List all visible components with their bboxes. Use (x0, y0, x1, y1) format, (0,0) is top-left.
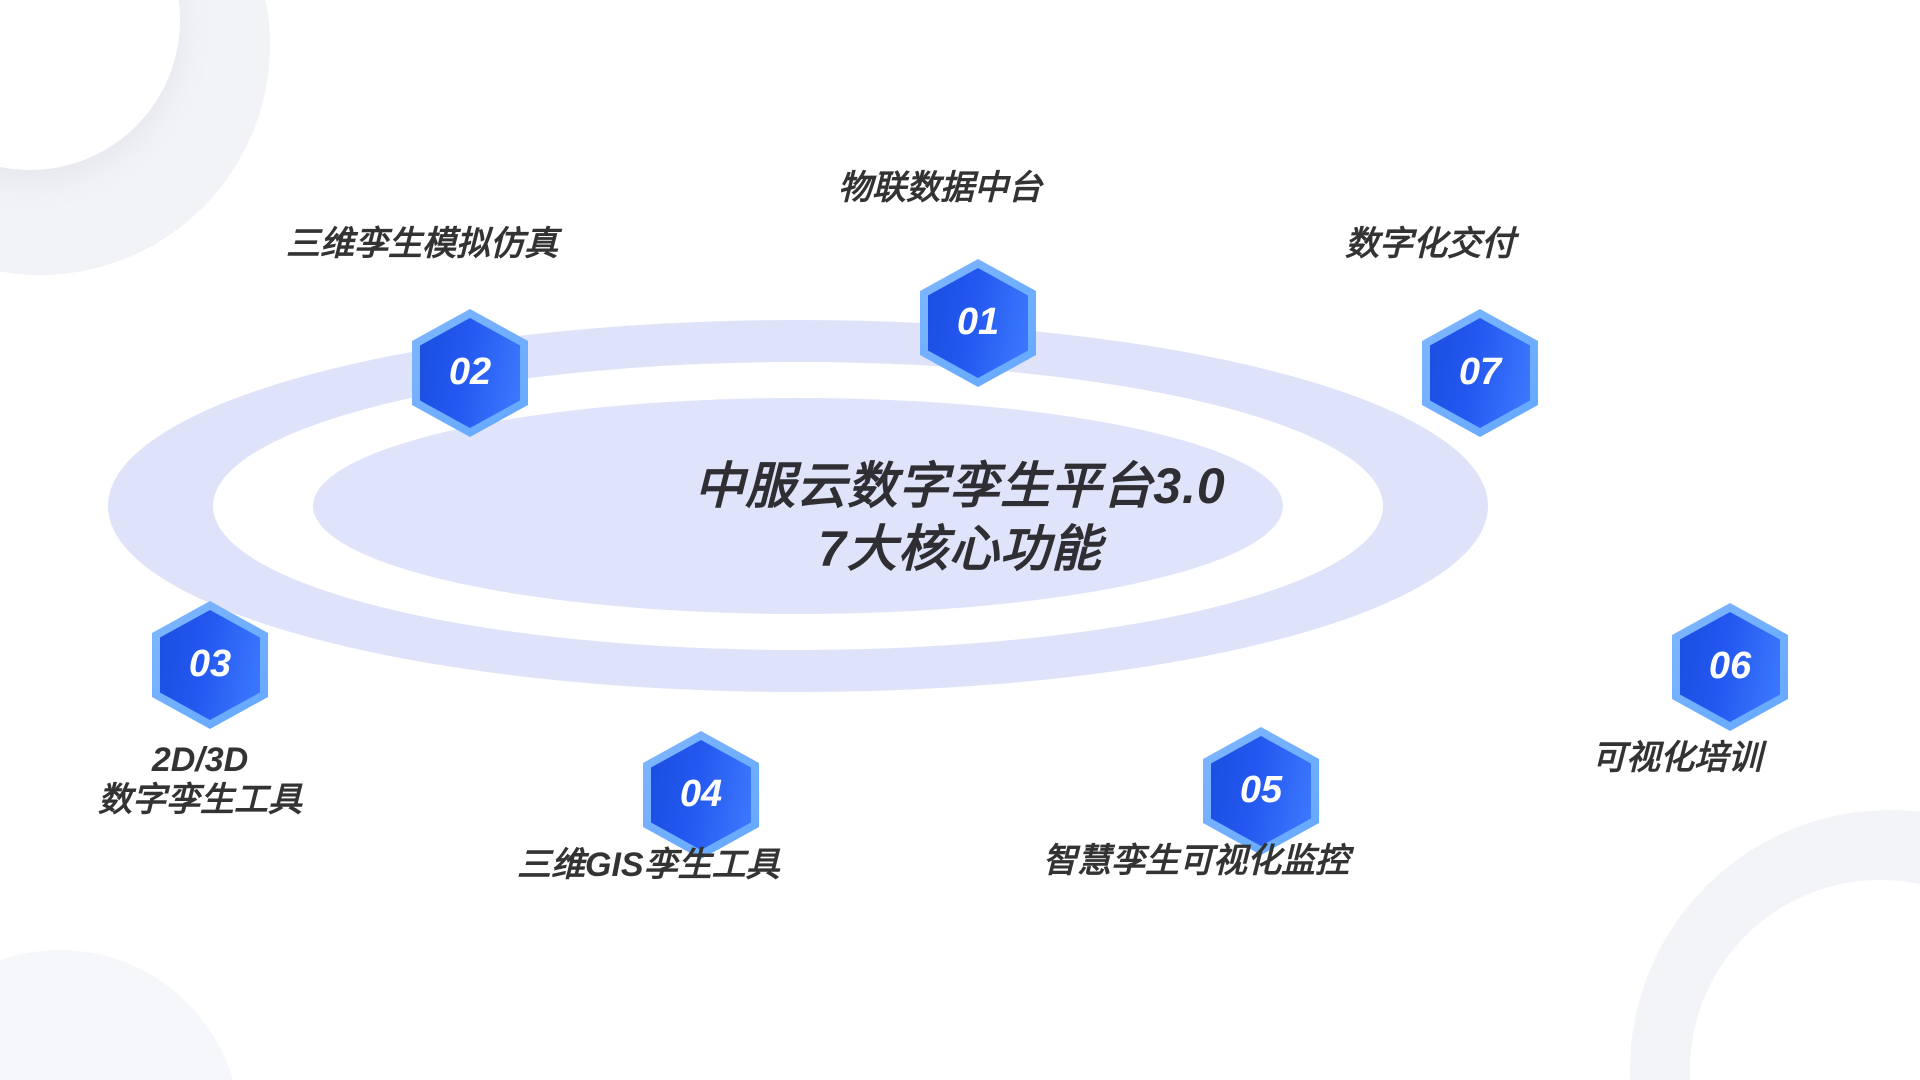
node-badge-04-inner: 04 (651, 740, 751, 850)
center-title-line2: 7大核心功能 (500, 518, 1420, 581)
node-number-01: 01 (957, 303, 999, 341)
node-number-06: 06 (1709, 647, 1751, 685)
node-label-07: 数字化交付 (1345, 224, 1515, 264)
node-label-06: 可视化培训 (1592, 738, 1762, 778)
decorative-circle-bottom-left (0, 950, 240, 1080)
node-label-03: 2D/3D 数字孪生工具 (30, 740, 370, 820)
node-number-03: 03 (189, 645, 231, 683)
node-number-05: 05 (1240, 771, 1282, 809)
node-badge-06[interactable]: 06 (1672, 603, 1788, 731)
node-badge-02-inner: 02 (420, 318, 520, 428)
decorative-circle-top-left-inner (0, 0, 180, 170)
node-badge-07-inner: 07 (1430, 318, 1530, 428)
node-number-02: 02 (449, 353, 491, 391)
node-badge-05-inner: 05 (1211, 736, 1311, 846)
node-badge-04[interactable]: 04 (643, 731, 759, 859)
node-badge-06-inner: 06 (1680, 612, 1780, 722)
node-label-03-line1: 2D/3D (30, 740, 370, 780)
node-label-02: 三维孪生模拟仿真 (286, 224, 558, 264)
node-number-07: 07 (1459, 353, 1501, 391)
decorative-circle-top-left-outer (0, 0, 270, 275)
decorative-circle-bottom-right-inner (1690, 880, 1920, 1080)
node-label-01: 物联数据中台 (838, 168, 1042, 208)
node-badge-03-inner: 03 (160, 610, 260, 720)
center-title: 中服云数字孪生平台3.0 7大核心功能 (500, 455, 1420, 580)
infographic-canvas: 中服云数字孪生平台3.0 7大核心功能 物联数据中台 01 三维孪生模拟仿真 0… (0, 0, 1920, 1080)
node-label-03-line2: 数字孪生工具 (30, 780, 370, 820)
center-title-line1: 中服云数字孪生平台3.0 (500, 455, 1420, 518)
decorative-circle-bottom-right-outer (1630, 810, 1920, 1080)
node-label-05: 智慧孪生可视化监控 (1043, 841, 1349, 881)
node-number-04: 04 (680, 775, 722, 813)
node-label-04: 三维GIS孪生工具 (517, 845, 780, 885)
node-badge-05[interactable]: 05 (1203, 727, 1319, 855)
node-badge-01-inner: 01 (928, 268, 1028, 378)
